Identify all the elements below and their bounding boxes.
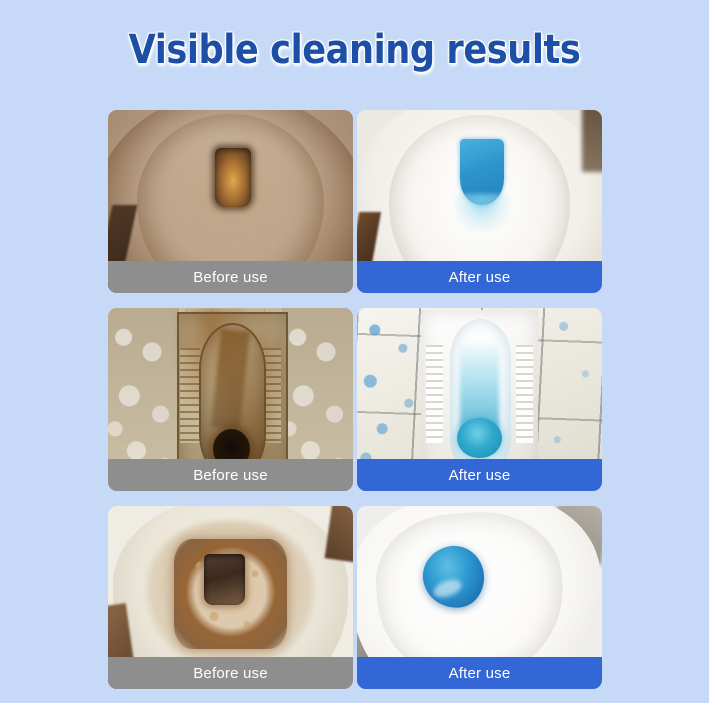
comparison-grid: Before use After use Before use: [108, 110, 602, 689]
comparison-card-before-1[interactable]: Before use: [108, 110, 353, 293]
blue-cleaner-gel: [457, 418, 501, 458]
comparison-card-after-3[interactable]: After use: [357, 506, 602, 689]
label-bar-before: Before use: [108, 261, 353, 293]
blue-cleaner-runoff: [460, 341, 499, 429]
label-bar-after: After use: [357, 261, 602, 293]
foot-ridge-left: [426, 345, 443, 444]
blue-cleaner-runoff: [455, 194, 509, 231]
background-floor-right: [324, 506, 353, 563]
label-bar-after: After use: [357, 459, 602, 491]
label-bar-before: Before use: [108, 459, 353, 491]
comparison-card-before-3[interactable]: Before use: [108, 506, 353, 689]
comparison-card-after-1[interactable]: After use: [357, 110, 602, 293]
foot-ridge-right: [516, 345, 533, 444]
page-title: Visible cleaning results: [43, 27, 667, 73]
comparison-card-after-2[interactable]: After use: [357, 308, 602, 491]
drain-hole: [204, 554, 246, 605]
comparison-card-before-2[interactable]: Before use: [108, 308, 353, 491]
label-bar-before: Before use: [108, 657, 353, 689]
background-shadow-right: [582, 110, 602, 172]
label-bar-after: After use: [357, 657, 602, 689]
